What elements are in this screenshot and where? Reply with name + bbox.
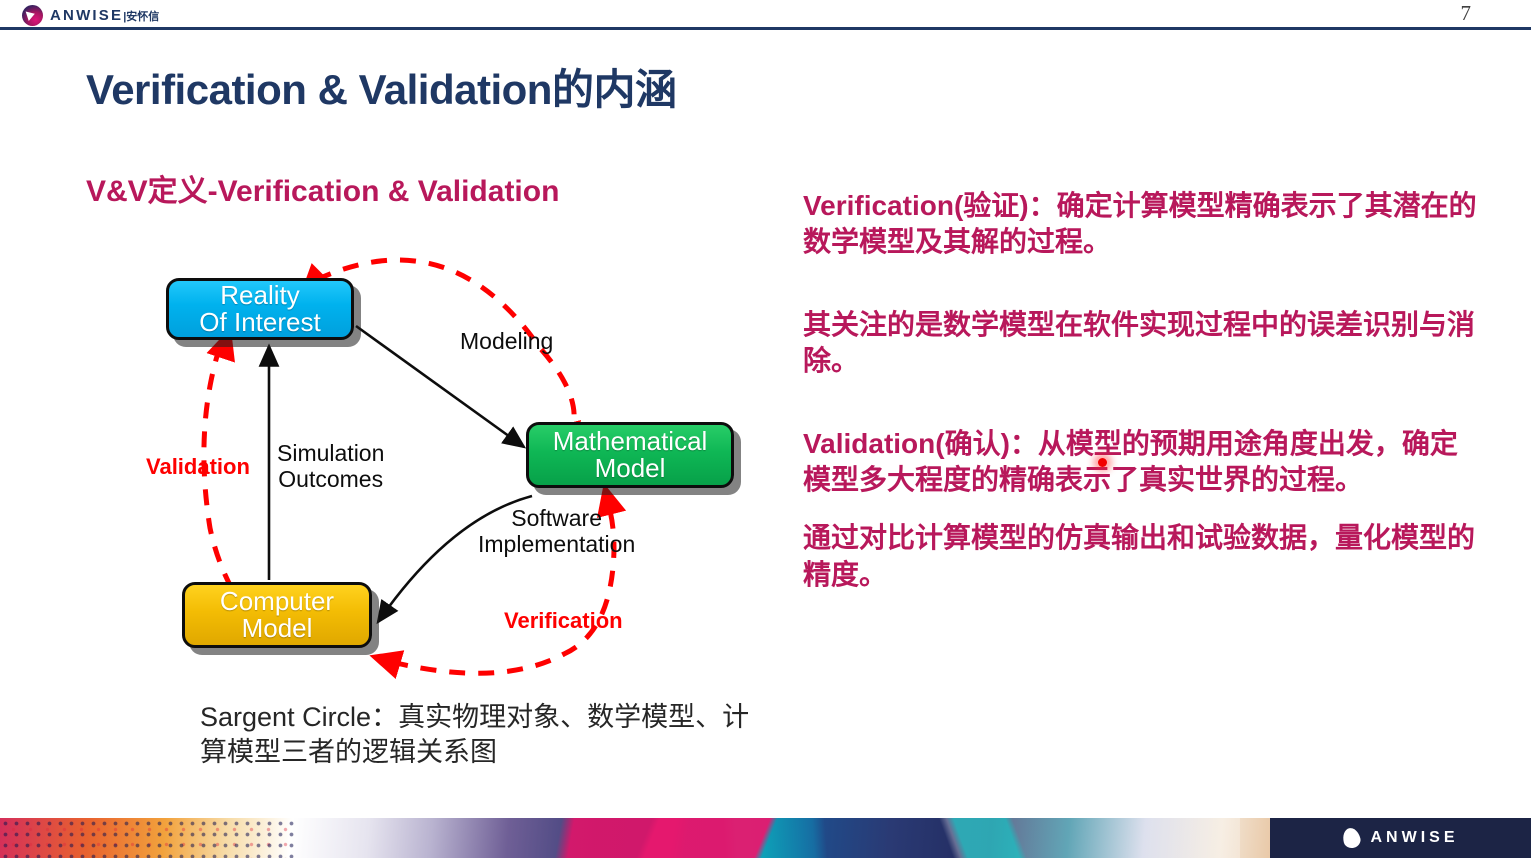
diagram-caption: Sargent Circle：真实物理对象、数学模型、计算模型三者的逻辑关系图 [200, 700, 760, 769]
edge-label-simulation-outcomes: Simulation Outcomes [277, 440, 384, 492]
node-computer-line1: Computer [220, 588, 334, 615]
footer-logo: ANWISE [1270, 818, 1531, 858]
dashed-arrow-head-computer-bottom [378, 658, 398, 664]
footer-brand-name: ANWISE [1371, 829, 1459, 847]
anwise-flame-icon [1340, 826, 1361, 850]
section-subtitle: V&V定义-Verification & Validation [86, 166, 559, 210]
diagram-node-computer-model[interactable]: Computer Model [182, 582, 372, 648]
anwise-logo: ANWISE|安怀信 [22, 3, 159, 27]
header-divider [0, 27, 1531, 30]
annotation-validation: Validation [146, 454, 250, 480]
edge-label-modeling: Modeling [460, 328, 553, 354]
node-math-line2: Model [595, 455, 666, 482]
edge-label-software-implementation: Software Implementation [478, 505, 635, 557]
annotation-verification: Verification [504, 608, 623, 634]
edge-label-simulation-line1: Simulation [277, 440, 384, 466]
edge-label-software-line2: Implementation [478, 531, 635, 557]
edge-label-simulation-line2: Outcomes [278, 466, 383, 492]
brand-name-latin: ANWISE [50, 7, 123, 24]
slide-title: Verification & Validation的内涵 [86, 56, 676, 117]
diagram-node-reality-of-interest[interactable]: Reality Of Interest [166, 278, 354, 340]
edge-label-software-line1: Software [511, 505, 602, 531]
paragraph-validation-method: 通过对比计算模型的仿真输出和试验数据，量化模型的精度。 [803, 520, 1483, 593]
node-math-line1: Mathematical [553, 428, 708, 455]
dashed-arc-validation [204, 346, 248, 614]
paragraph-verification-definition: Verification(验证)：确定计算模型精确表示了其潜在的数学模型及其解的… [803, 188, 1483, 261]
paragraph-validation-definition: Validation(确认)：从模型的预期用途角度出发，确定模型多大程度的精确表… [803, 426, 1483, 499]
definitions-column: Verification(验证)：确定计算模型精确表示了其潜在的数学模型及其解的… [803, 188, 1483, 615]
sargent-circle-diagram: Reality Of Interest Mathematical Model C… [120, 250, 800, 690]
page-number: 7 [1461, 1, 1472, 26]
paragraph-verification-focus: 其关注的是数学模型在软件实现过程中的误差识别与消除。 [803, 307, 1483, 380]
footer-decorative-banner [0, 818, 1270, 858]
anwise-logo-mark-icon [22, 5, 43, 26]
node-reality-line1: Reality [220, 282, 299, 309]
brand-name-chinese: |安怀信 [123, 11, 159, 23]
laser-pointer-dot [1098, 458, 1107, 467]
diagram-node-mathematical-model[interactable]: Mathematical Model [526, 422, 734, 488]
slide-footer: ANWISE [0, 818, 1531, 858]
brand-name: ANWISE|安怀信 [50, 7, 159, 24]
node-reality-line2: Of Interest [199, 309, 320, 336]
node-computer-line2: Model [242, 615, 313, 642]
slide-header: ANWISE|安怀信 7 [0, 0, 1531, 28]
